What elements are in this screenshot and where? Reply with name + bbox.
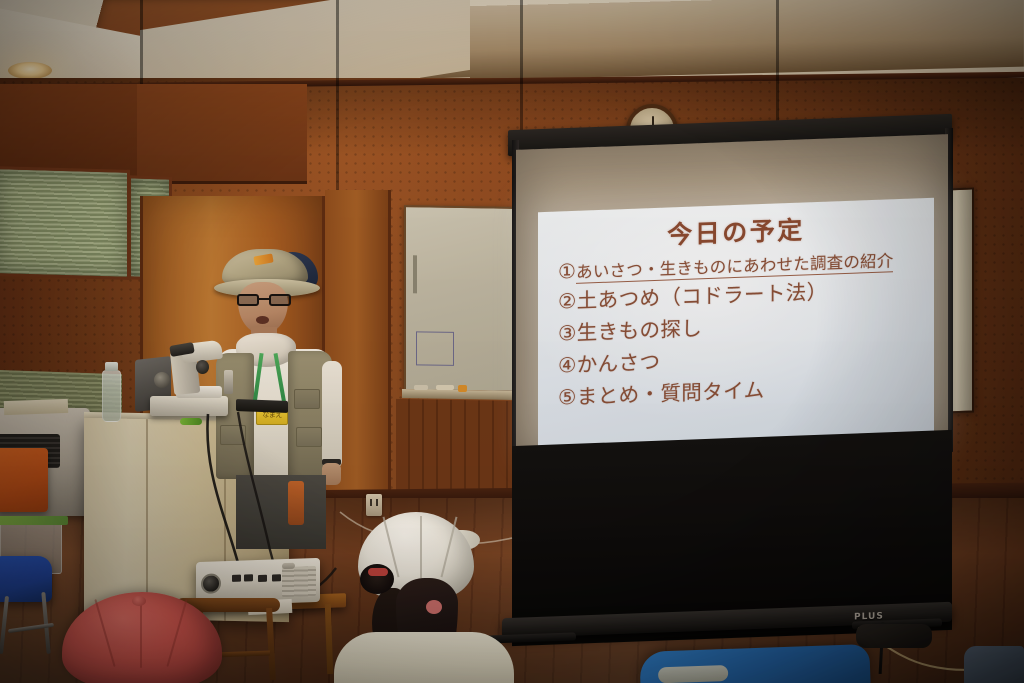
- water-bottle-cap: [105, 362, 118, 371]
- projector-port-d: [272, 574, 281, 581]
- presenter-glasses-bridge: [259, 298, 269, 300]
- slide-line-5-number: ⑤: [558, 385, 577, 410]
- child-shoulders: [334, 632, 514, 683]
- whiteboard-eraser: [414, 385, 428, 390]
- red-cap-button: [132, 596, 146, 606]
- white-cap-inner-red: [368, 568, 388, 576]
- projector-port-c: [258, 575, 267, 582]
- microscope-mirror: [224, 370, 233, 394]
- water-bottle: [102, 370, 121, 422]
- upper-cabinet-left: [0, 84, 137, 180]
- red-baseball-cap: [62, 592, 222, 683]
- slide-line-3-text: 生きもの探し: [577, 316, 702, 345]
- whiteboard-marker-white: [436, 385, 454, 390]
- audience-child-red-cap: [62, 592, 222, 683]
- foreground-dark-object: [856, 624, 932, 648]
- podium-seam-a: [146, 419, 148, 619]
- red-cap-seam-b: [140, 598, 142, 668]
- orange-equipment-case: [0, 448, 48, 512]
- presenter-vest-pocket-a: [294, 389, 320, 409]
- audience-child-white-cap: [334, 512, 514, 683]
- whiteboard-marker-orange: [458, 385, 467, 392]
- projector-top-knob: [282, 563, 295, 569]
- slide-line-3-number: ③: [558, 321, 577, 346]
- whiteboard: [404, 205, 514, 393]
- projector-lens: [201, 573, 221, 594]
- projector-port-a: [232, 575, 241, 582]
- white-cap-seam-b: [420, 516, 422, 578]
- child-ear: [426, 600, 442, 614]
- presenter-glasses-lens-right: [269, 294, 291, 306]
- presenter-mouth: [256, 316, 269, 324]
- photo-scene: 今日の予定 ①あいさつ・生きものにあわせた調査の紹介 ②土あつめ（コドラート法）…: [0, 0, 1024, 683]
- slide-line-1-number: ①: [558, 259, 576, 284]
- window-blinds-left: [0, 166, 130, 280]
- upper-cabinet-center: [137, 84, 307, 184]
- wooden-chair-leg-right: [266, 608, 276, 680]
- whiteboard-drawn-rectangle: [416, 331, 454, 366]
- whiteboard-hinge: [413, 255, 417, 293]
- projection-screen: 今日の予定 ①あいさつ・生きものにあわせた調査の紹介 ②土あつめ（コドラート法）…: [502, 122, 954, 652]
- recessed-downlight: [8, 62, 52, 79]
- slide-line-2-number: ②: [558, 289, 577, 314]
- projector-vent-fins: [282, 566, 316, 597]
- blue-bag-white-patch: [658, 665, 729, 683]
- presenter-glasses-lens-left: [237, 294, 259, 306]
- slide-line-4-text: かんさつ: [577, 350, 661, 377]
- presenter-glasses: [237, 294, 291, 306]
- storage-bin-lid: [0, 516, 68, 525]
- projector-port-b: [244, 574, 253, 581]
- microscope-focus-knob: [154, 372, 170, 388]
- slide-line-5-text: まとめ・質問タイム: [577, 378, 765, 409]
- slide-line-2-text: 土あつめ（コドラート法）: [577, 280, 828, 313]
- slide-agenda-list: ①あいさつ・生きものにあわせた調査の紹介 ②土あつめ（コドラート法） ③生きもの…: [558, 246, 926, 413]
- microscope-objective-lens: [196, 360, 209, 374]
- blue-bag-on-floor: [639, 644, 870, 683]
- slide-line-4-number: ④: [558, 353, 577, 378]
- paper-on-heater: [4, 399, 68, 415]
- foreground-gray-blue-object: [964, 646, 1024, 683]
- projected-slide: 今日の予定 ①あいさつ・生きものにあわせた調査の紹介 ②土あつめ（コドラート法）…: [538, 198, 934, 450]
